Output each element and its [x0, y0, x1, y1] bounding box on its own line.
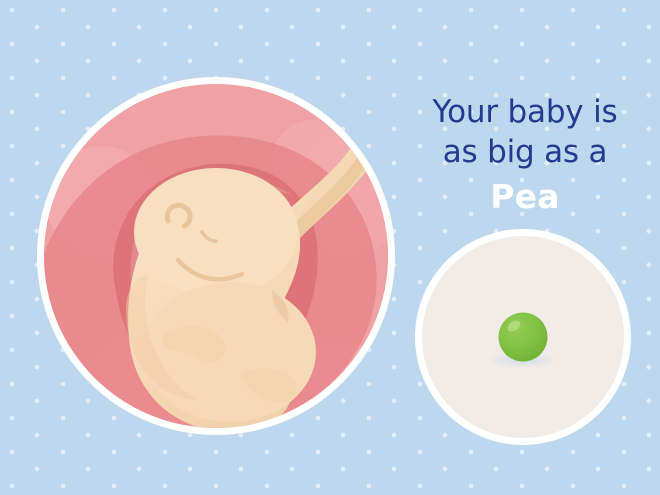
pea-illustration-circle — [422, 236, 624, 438]
infographic-canvas: Your baby is as big as a Pea — [0, 0, 660, 495]
fetus-illustration-svg — [44, 84, 388, 428]
fetus-illustration-circle — [44, 84, 388, 428]
pea-sphere — [499, 313, 548, 362]
pea-illustration-svg — [422, 236, 624, 438]
headline-block: Your baby is as big as a Pea — [396, 92, 654, 218]
headline-size-comparison: Pea — [396, 176, 654, 219]
embryo-rump — [144, 282, 316, 422]
headline-line-1: Your baby is — [396, 92, 654, 132]
headline-line-2: as big as a — [396, 132, 654, 172]
fetus-scene — [44, 84, 388, 428]
